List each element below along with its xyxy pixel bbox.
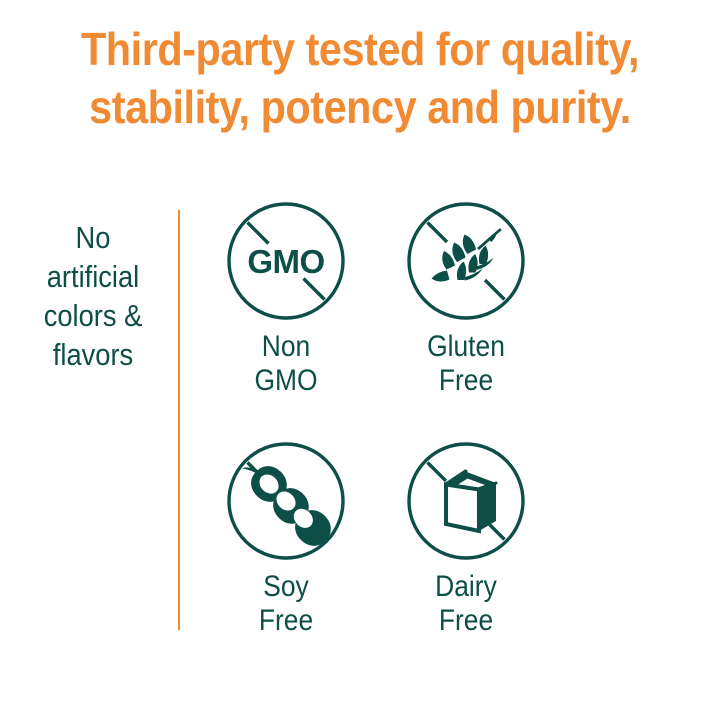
non-gmo-inner-text: GMO [247, 243, 324, 280]
vertical-divider [178, 210, 180, 630]
infographic-page: Third-party tested for quality, stabilit… [0, 0, 720, 720]
no-artificial-claim: No artificial colors & flavors [34, 218, 152, 374]
badge-label-line-1: Dairy [387, 570, 545, 604]
claim-line-2: artificial [34, 257, 152, 296]
wheat-icon [405, 200, 527, 322]
badge-label-non-gmo: Non GMO [207, 330, 365, 398]
soybean-pod-icon [225, 440, 347, 562]
badge-label-line-2: GMO [207, 364, 365, 398]
badge-label-line-1: Gluten [387, 330, 545, 364]
badge-label-soy-free: Soy Free [207, 570, 365, 638]
badge-label-gluten-free: Gluten Free [387, 330, 545, 398]
headline-line-2: stability, potency and purity. [36, 78, 684, 136]
badge-dairy-free: Dairy Free [376, 440, 556, 638]
badge-label-dairy-free: Dairy Free [387, 570, 545, 638]
badge-soy-free: Soy Free [196, 440, 376, 638]
non-gmo-icon: GMO [225, 200, 347, 322]
certification-badge-grid: GMO Non GMO [196, 200, 556, 660]
claim-line-1: No [34, 218, 152, 257]
page-title: Third-party tested for quality, stabilit… [36, 20, 684, 136]
milk-carton-icon [405, 440, 527, 562]
badge-label-line-1: Non [207, 330, 365, 364]
badge-label-line-1: Soy [207, 570, 365, 604]
claim-line-4: flavors [34, 335, 152, 374]
badge-gluten-free: Gluten Free [376, 200, 556, 398]
badge-non-gmo: GMO Non GMO [196, 200, 376, 398]
badge-label-line-2: Free [387, 604, 545, 638]
headline-line-1: Third-party tested for quality, [36, 20, 684, 78]
claim-line-3: colors & [34, 296, 152, 335]
badge-label-line-2: Free [207, 604, 365, 638]
badge-label-line-2: Free [387, 364, 545, 398]
